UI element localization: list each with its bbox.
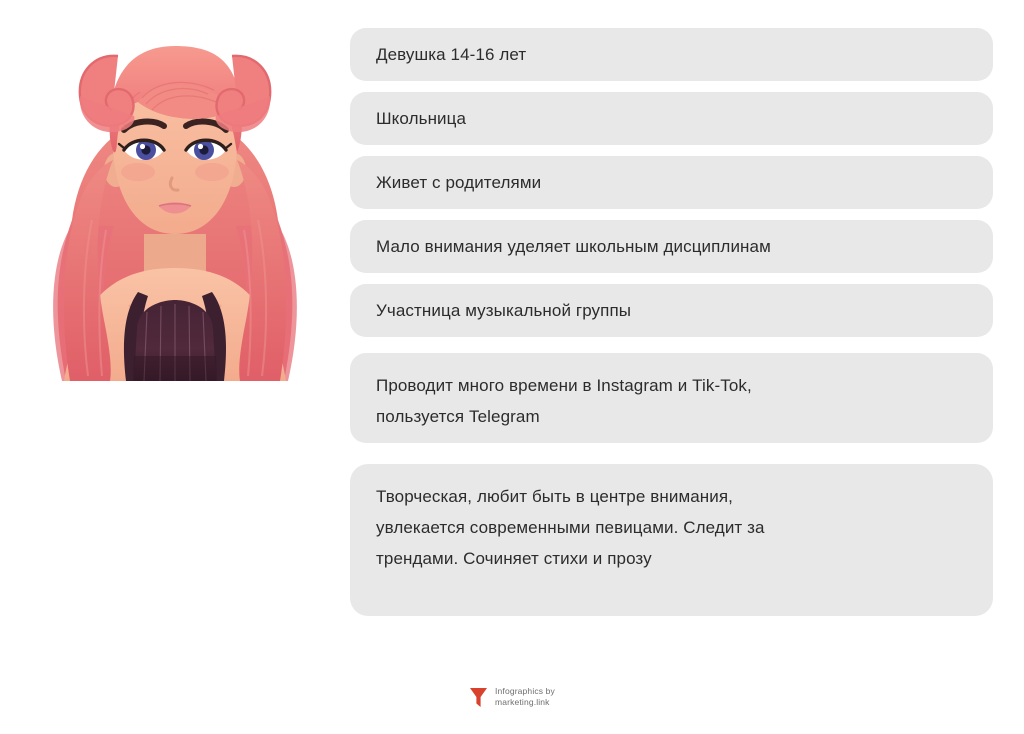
persona-facts-list: Девушка 14-16 лет Школьница Живет с роди… bbox=[350, 28, 993, 616]
watermark-line-2: marketing.link bbox=[495, 697, 555, 708]
fact-item-4: Мало внимания уделяет школьным дисциплин… bbox=[350, 220, 993, 273]
fact-item-6-text: Проводит много времени в Instagram и Tik… bbox=[376, 370, 752, 432]
watermark: Infographics by marketing.link bbox=[0, 686, 1024, 708]
fact-item-3: Живет с родителями bbox=[350, 156, 993, 209]
fact-item-3-text: Живет с родителями bbox=[376, 170, 541, 196]
fact-item-4-text: Мало внимания уделяет школьным дисциплин… bbox=[376, 234, 771, 260]
fact-item-7: Творческая, любит быть в центре внимания… bbox=[350, 464, 993, 616]
fact-item-6: Проводит много времени в Instagram и Tik… bbox=[350, 353, 993, 443]
infographic-canvas: Девушка 14-16 лет Школьница Живет с роди… bbox=[0, 0, 1024, 734]
watermark-text: Infographics by marketing.link bbox=[495, 686, 555, 708]
fact-item-2-text: Школьница bbox=[376, 106, 466, 132]
fact-item-5: Участница музыкальной группы bbox=[350, 284, 993, 337]
fact-item-5-text: Участница музыкальной группы bbox=[376, 298, 631, 324]
fact-item-1: Девушка 14-16 лет bbox=[350, 28, 993, 81]
fact-item-1-text: Девушка 14-16 лет bbox=[376, 42, 526, 68]
persona-illustration bbox=[20, 20, 330, 385]
fact-item-2: Школьница bbox=[350, 92, 993, 145]
fact-item-7-text: Творческая, любит быть в центре внимания… bbox=[376, 481, 765, 574]
funnel-triangle-icon bbox=[469, 686, 488, 708]
watermark-line-1: Infographics by bbox=[495, 686, 555, 697]
